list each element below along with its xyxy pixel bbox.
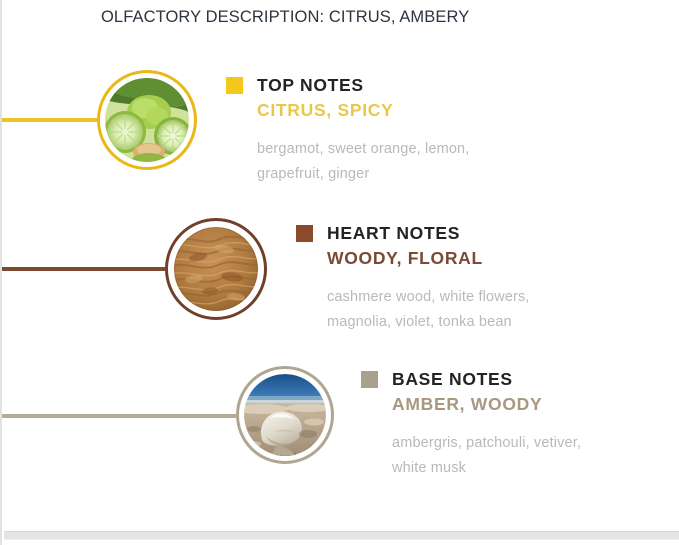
olfactory-pyramid-diagram: OLFACTORY DESCRIPTION: CITRUS, AMBERY [0, 0, 679, 545]
connector-line-base [2, 414, 254, 418]
page-title: OLFACTORY DESCRIPTION: CITRUS, AMBERY [101, 8, 469, 27]
connector-line-heart [2, 267, 184, 271]
note-thumbnail-base[interactable] [236, 366, 334, 464]
ingredient-line: white musk [392, 456, 581, 481]
note-family-label-heart: WOODY, FLORAL [327, 248, 530, 269]
note-family-label-top: CITRUS, SPICY [257, 100, 469, 121]
note-ingredients-top: bergamot, sweet orange, lemon, grapefrui… [257, 137, 469, 187]
note-thumbnail-ring-top [97, 70, 197, 170]
note-headline-base: BASE NOTES [361, 368, 581, 390]
ingredient-line: grapefruit, ginger [257, 162, 469, 187]
note-thumbnail-ring-base [236, 366, 334, 464]
note-thumbnail-ring-heart [165, 218, 267, 320]
note-kind-label-top: TOP NOTES [257, 75, 364, 96]
ingredient-line: ambergris, patchouli, vetiver, [392, 431, 581, 456]
footer-divider [4, 531, 679, 540]
note-thumbnail-top[interactable] [97, 70, 197, 170]
note-kind-label-heart: HEART NOTES [327, 223, 460, 244]
note-family-label-base: AMBER, WOODY [392, 394, 581, 415]
note-ingredients-heart: cashmere wood, white flowers, magnolia, … [327, 285, 530, 335]
note-headline-top: TOP NOTES [226, 74, 469, 96]
ingredient-line: cashmere wood, white flowers, [327, 285, 530, 310]
note-kind-label-base: BASE NOTES [392, 369, 513, 390]
note-block-top: TOP NOTES CITRUS, SPICY bergamot, sweet … [226, 74, 469, 187]
ingredient-line: bergamot, sweet orange, lemon, [257, 137, 469, 162]
color-swatch-icon-top [226, 77, 243, 94]
ingredient-line: magnolia, violet, tonka bean [327, 310, 530, 335]
note-headline-heart: HEART NOTES [296, 222, 530, 244]
color-swatch-icon-base [361, 371, 378, 388]
note-block-base: BASE NOTES AMBER, WOODY ambergris, patch… [361, 368, 581, 481]
note-thumbnail-heart[interactable] [165, 218, 267, 320]
color-swatch-icon-heart [296, 225, 313, 242]
note-ingredients-base: ambergris, patchouli, vetiver, white mus… [392, 431, 581, 481]
note-block-heart: HEART NOTES WOODY, FLORAL cashmere wood,… [296, 222, 530, 335]
